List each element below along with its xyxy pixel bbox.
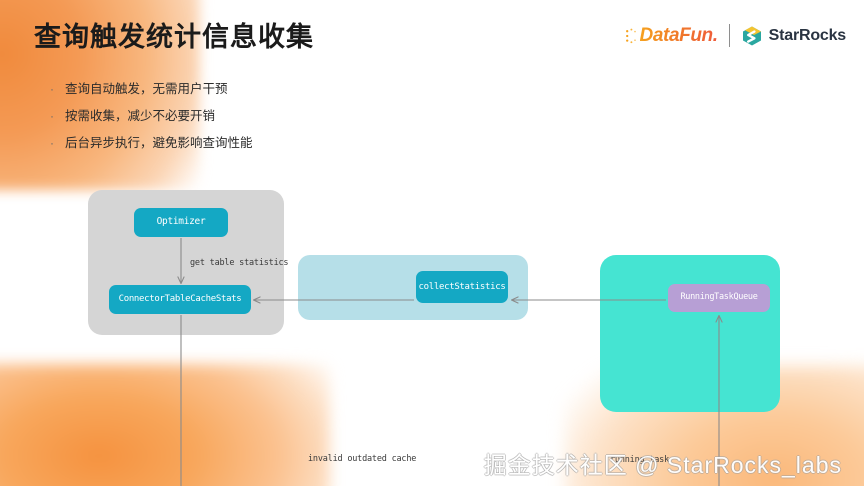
- node-connector-table-cache-stats[interactable]: ConnectorTableCacheStats: [109, 285, 251, 314]
- bullet-marker-icon: ·: [50, 110, 54, 122]
- bullet-list: · 查询自动触发，无需用户干预 · 按需收集，减少不必要开销 · 后台异步执行，…: [50, 82, 450, 163]
- bullet-item: · 按需收集，减少不必要开销: [50, 109, 450, 124]
- datafun-dots-icon: [625, 27, 638, 45]
- bullet-text: 按需收集，减少不必要开销: [65, 109, 215, 124]
- bullet-marker-icon: ·: [50, 137, 54, 149]
- datafun-wordmark: DataFun.: [640, 25, 718, 47]
- node-optimizer[interactable]: Optimizer: [134, 208, 228, 237]
- watermark: 掘金技术社区 @ StarRocks_labs: [484, 446, 842, 480]
- starrocks-wordmark: StarRocks: [769, 27, 846, 45]
- edge-label-get-table-statistics: get table statistics: [190, 258, 288, 268]
- node-running-task-queue[interactable]: RunningTaskQueue: [668, 284, 770, 312]
- bullet-text: 查询自动触发，无需用户干预: [65, 82, 228, 97]
- bullet-marker-icon: ·: [50, 83, 54, 95]
- page-title: 查询触发统计信息收集: [34, 15, 314, 54]
- slide-canvas: 查询触发统计信息收集 DataFun. StarRocks: [0, 0, 864, 486]
- bullet-text: 后台异步执行，避免影响查询性能: [65, 136, 253, 151]
- starrocks-cube-icon: [741, 25, 763, 47]
- datafun-logo: DataFun.: [625, 25, 718, 47]
- diagram-group-scheduler: [600, 255, 780, 412]
- logo-divider: [729, 24, 730, 47]
- architecture-diagram: Optimizer ConnectorTableCacheStats colle…: [0, 170, 864, 425]
- node-collect-statistics[interactable]: collectStatistics: [416, 271, 508, 303]
- bullet-item: · 查询自动触发，无需用户干预: [50, 82, 450, 97]
- starrocks-logo: StarRocks: [741, 25, 846, 47]
- logo-row: DataFun. StarRocks: [625, 24, 846, 47]
- edge-label-invalid-outdated-cache: invalid outdated cache: [308, 454, 416, 464]
- bullet-item: · 后台异步执行，避免影响查询性能: [50, 136, 450, 151]
